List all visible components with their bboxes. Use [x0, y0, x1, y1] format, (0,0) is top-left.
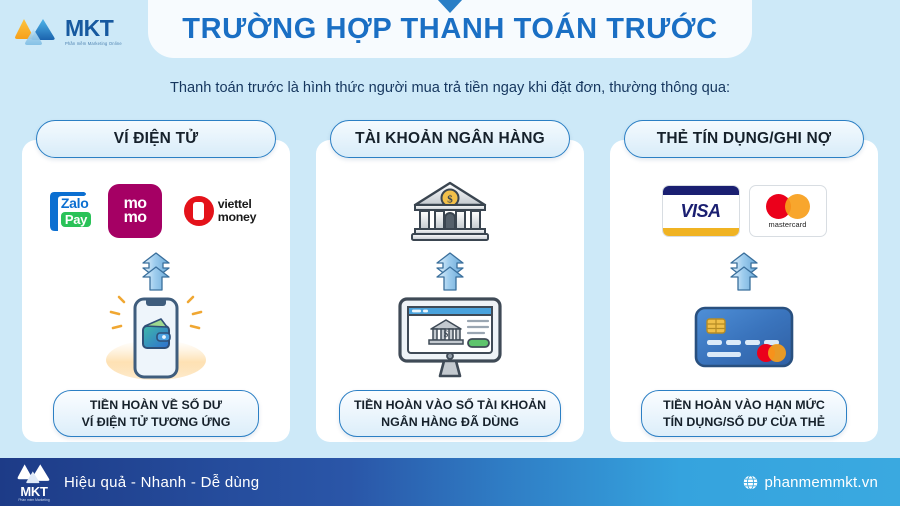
desktop-online-banking-icon: $	[392, 296, 508, 378]
caption-bank-account: TIỀN HOÀN VÀO SỐ TÀI KHOẢN NGÂN HÀNG ĐÃ …	[339, 390, 561, 437]
column-bank-account: TÀI KHOẢN NGÂN HÀNG $	[310, 120, 590, 458]
title-plate: TRƯỜNG HỢP THANH TOÁN TRƯỚC	[148, 0, 752, 58]
down-arrow-icon	[430, 251, 470, 293]
footer-logo-tagline: Phần mềm Marketing	[18, 499, 49, 502]
brand-logo-tagline: Phần mềm Marketing Online	[65, 42, 122, 46]
illustration-credit-card	[692, 294, 796, 380]
footer-left: MKT Phần mềm Marketing Hiệu quả - Nhanh …	[0, 458, 500, 506]
mkt-triangles-icon	[14, 15, 60, 49]
footer: MKT Phần mềm Marketing Hiệu quả - Nhanh …	[0, 458, 900, 506]
column-heading-credit-debit-card: THẺ TÍN DỤNG/GHI NỢ	[624, 120, 864, 158]
phone-wallet-icon	[97, 294, 215, 380]
mastercard-circles-icon	[766, 194, 810, 219]
arrow-row-credit-debit-card	[724, 250, 764, 294]
bank-logo-row: $	[411, 180, 489, 242]
visa-label: VISA	[680, 201, 720, 222]
column-credit-debit-card: THẺ TÍN DỤNG/GHI NỢ VISA mastercard	[604, 120, 884, 458]
brand-logo-word: MKT	[65, 17, 122, 40]
footer-brand-logo: MKT Phần mềm Marketing	[16, 462, 52, 502]
columns-container: VÍ ĐIỆN TỬ Zalo Pay m	[16, 120, 884, 458]
wallet-logos-row: Zalo Pay mo mo	[44, 180, 268, 242]
down-arrow-icon	[136, 251, 176, 293]
column-heading-label: TÀI KHOẢN NGÂN HÀNG	[355, 130, 545, 148]
visa-logo: VISA	[662, 185, 740, 237]
zalopay-primary-label: Zalo	[61, 196, 89, 210]
page-title: TRƯỜNG HỢP THANH TOÁN TRƯỚC	[182, 13, 717, 46]
momo-badge: mo mo	[108, 184, 162, 238]
credit-card-icon	[692, 302, 796, 372]
viettel-line-2: money	[218, 211, 256, 224]
viettel-money-logo: viettel money	[172, 191, 268, 231]
caption-line-1: TIỀN HOÀN VÀO SỐ TÀI KHOẢN	[354, 397, 546, 414]
arrow-row-bank-account	[430, 250, 470, 294]
infographic-page: MKT Phần mềm Marketing Online TRƯỜNG HỢP…	[0, 0, 900, 506]
column-heading-label: VÍ ĐIỆN TỬ	[114, 130, 199, 148]
zalopay-logo: Zalo Pay	[44, 184, 98, 238]
footer-right[interactable]: phanmemmkt.vn	[500, 458, 900, 506]
caption-line-2: TÍN DỤNG/SỐ DƯ CỦA THẺ	[656, 414, 832, 431]
header: MKT Phần mềm Marketing Online TRƯỜNG HỢP…	[0, 0, 900, 62]
mastercard-label: mastercard	[769, 220, 807, 229]
svg-text:$: $	[447, 194, 453, 206]
svg-text:$: $	[444, 329, 449, 339]
brand-logo: MKT Phần mềm Marketing Online	[14, 10, 140, 54]
caption-line-2: NGÂN HÀNG ĐÃ DÙNG	[354, 414, 546, 431]
mkt-triangles-icon	[16, 462, 52, 484]
column-heading-label: THẺ TÍN DỤNG/GHI NỢ	[657, 130, 832, 148]
bank-building-icon: $	[411, 180, 489, 242]
momo-logo: mo mo	[107, 183, 163, 239]
caption-line-2: VÍ ĐIỆN TỬ TƯƠNG ỨNG	[68, 414, 244, 431]
caption-line-1: TIỀN HOÀN VỀ SỐ DƯ	[68, 397, 244, 414]
column-heading-e-wallet: VÍ ĐIỆN TỬ	[36, 120, 276, 158]
viettel-phone-badge-icon	[184, 196, 214, 226]
caption-e-wallet: TIỀN HOÀN VỀ SỐ DƯ VÍ ĐIỆN TỬ TƯƠNG ỨNG	[53, 390, 259, 437]
card-logos-row: VISA mastercard	[662, 180, 827, 242]
column-e-wallet: VÍ ĐIỆN TỬ Zalo Pay m	[16, 120, 296, 458]
down-arrow-icon	[724, 251, 764, 293]
illustration-online-banking: $	[392, 294, 508, 380]
illustration-phone-wallet	[97, 294, 215, 380]
arrow-row-e-wallet	[136, 250, 176, 294]
globe-icon	[743, 475, 758, 490]
footer-slogan: Hiệu quả - Nhanh - Dễ dùng	[64, 474, 259, 491]
subtitle: Thanh toán trước là hình thức người mua …	[0, 80, 900, 96]
footer-logo-word: MKT	[20, 485, 47, 498]
footer-website[interactable]: phanmemmkt.vn	[765, 474, 878, 491]
zalopay-secondary-label: Pay	[61, 212, 91, 227]
column-heading-bank-account: TÀI KHOẢN NGÂN HÀNG	[330, 120, 570, 158]
caption-line-1: TIỀN HOÀN VÀO HẠN MỨC	[656, 397, 832, 414]
momo-line-2: mo	[124, 211, 147, 225]
mastercard-logo: mastercard	[749, 185, 827, 237]
caption-credit-debit-card: TIỀN HOÀN VÀO HẠN MỨC TÍN DỤNG/SỐ DƯ CỦA…	[641, 390, 847, 437]
